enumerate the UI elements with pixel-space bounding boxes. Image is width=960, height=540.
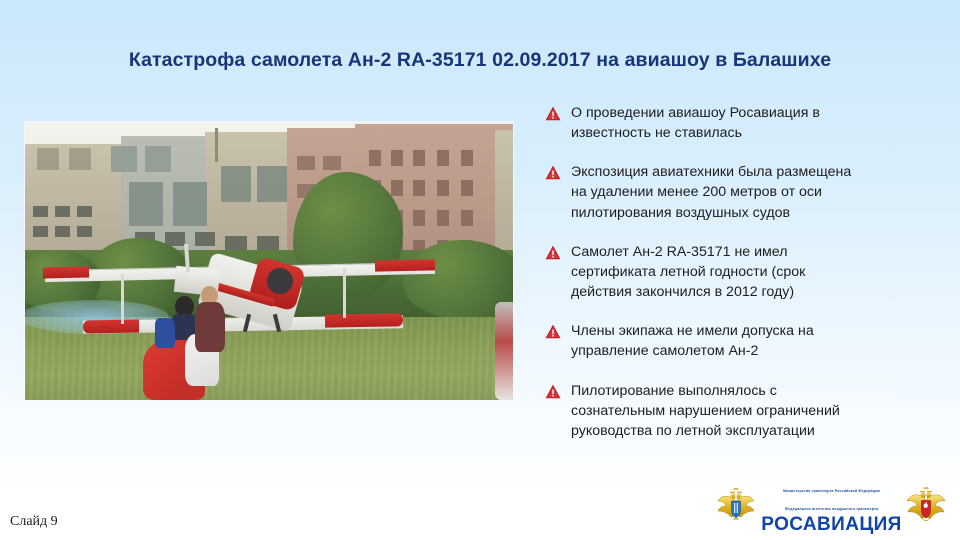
logo-ministry-line-1: Министерство транспорта Российской Федер…: [783, 489, 880, 493]
bullet-line: руководства по летной эксплуатации: [571, 421, 945, 441]
warning-triangle-icon: [545, 384, 561, 402]
logo-brand-name: РОСАВИАЦИЯ: [761, 514, 901, 535]
bullet-line: на удалении менее 200 метров от оси: [571, 182, 945, 202]
warning-triangle-icon: [545, 165, 561, 183]
list-item: Самолет Ан-2 RA-35171 не имел сертификат…: [545, 242, 945, 302]
presentation-slide: Катастрофа самолета Ан-2 RA-35171 02.09.…: [0, 0, 960, 540]
photo-person-foreground: [25, 122, 513, 400]
bullet-line: сознательным нарушением ограничений: [571, 401, 945, 421]
list-item-text: Самолет Ан-2 RA-35171 не имел сертификат…: [571, 242, 945, 302]
bullet-line: Экспозиция авиатехники была размещена: [571, 162, 945, 182]
logo-text-block: Министерство транспорта Российской Федер…: [759, 479, 904, 535]
russian-coat-of-arms-icon: [904, 485, 948, 529]
list-item-text: Члены экипажа не имели допуска на управл…: [571, 321, 945, 361]
bullet-line: действия закончился в 2012 году): [571, 282, 945, 302]
double-headed-eagle-icon: [713, 485, 759, 529]
list-item: Экспозиция авиатехники была размещена на…: [545, 162, 945, 222]
bullet-line: Самолет Ан-2 RA-35171 не имел: [571, 242, 945, 262]
warning-triangle-icon: [545, 245, 561, 263]
bullet-line: Члены экипажа не имели допуска на: [571, 321, 945, 341]
slide-number-label: Слайд 9: [10, 514, 58, 530]
slide-title: Катастрофа самолета Ан-2 RA-35171 02.09.…: [40, 48, 920, 72]
person-body-second: [195, 302, 225, 352]
person-parachute-blue: [155, 318, 175, 348]
bullet-line: сертификата летной годности (срок: [571, 262, 945, 282]
bullet-line: пилотирования воздушных судов: [571, 203, 945, 223]
list-item: О проведении авиашоу Росавиация в извест…: [545, 103, 945, 143]
warning-triangle-icon: [545, 106, 561, 124]
list-item-text: О проведении авиашоу Росавиация в извест…: [571, 103, 945, 143]
photo-canvas: [25, 122, 513, 400]
warning-triangle-icon: [545, 324, 561, 342]
list-item: Члены экипажа не имели допуска на управл…: [545, 321, 945, 361]
logo-ministry-line-2: Федеральное агентство воздушного транспо…: [785, 507, 878, 511]
list-item: Пилотирование выполнялось с сознательным…: [545, 381, 945, 441]
list-item-text: Пилотирование выполнялось с сознательным…: [571, 381, 945, 441]
person-right-edge: [495, 302, 513, 400]
bullet-line: О проведении авиашоу Росавиация в: [571, 103, 945, 123]
bullet-line: Пилотирование выполнялось с: [571, 381, 945, 401]
accident-photo: [25, 122, 513, 400]
list-item-text: Экспозиция авиатехники была размещена на…: [571, 162, 945, 222]
rosaviatsia-logo: Министерство транспорта Российской Федер…: [713, 483, 948, 531]
bullet-line: известность не ставилась: [571, 123, 945, 143]
bullet-line: управление самолетом Ан-2: [571, 341, 945, 361]
bullet-list: О проведении авиашоу Росавиация в извест…: [545, 103, 945, 441]
